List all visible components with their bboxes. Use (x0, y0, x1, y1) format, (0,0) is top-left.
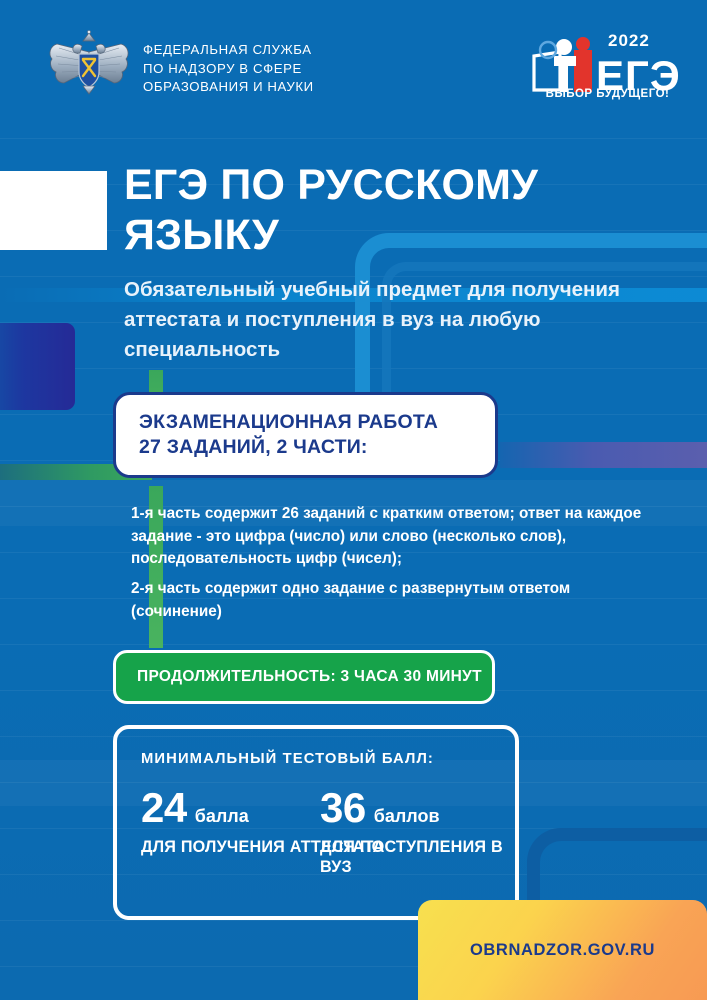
exam-work-line-2: 27 ЗАДАНИЙ, 2 ЧАСТИ: (139, 435, 438, 460)
minimum-score-panel: МИНИМАЛЬНЫЙ ТЕСТОВЫЙ БАЛЛ: 24 балла ДЛЯ … (113, 725, 519, 920)
score-number-row: 36 баллов (320, 787, 515, 829)
footer-website-url[interactable]: OBRNADZOR.GOV.RU (418, 941, 707, 960)
score-number: 36 (320, 787, 366, 829)
page-title: ЕГЭ ПО РУССКОМУ ЯЗЫКУ (124, 160, 624, 260)
org-line-2: ПО НАДЗОРУ В СФЕРЕ (143, 60, 314, 79)
poster: ФЕДЕРАЛЬНАЯ СЛУЖБА ПО НАДЗОРУ В СФЕРЕ ОБ… (0, 0, 707, 1000)
exam-work-card-text: ЭКЗАМЕНАЦИОННАЯ РАБОТА 27 ЗАДАНИЙ, 2 ЧАС… (116, 410, 438, 460)
purple-accent-band (500, 442, 707, 468)
exam-work-card: ЭКЗАМЕНАЦИОННАЯ РАБОТА 27 ЗАДАНИЙ, 2 ЧАС… (113, 392, 498, 478)
duration-text: ПРОДОЛЖИТЕЛЬНОСТЬ: 3 ЧАСА 30 МИНУТ (116, 668, 482, 686)
score-item-university: 36 баллов ДЛЯ ПОСТУПЛЕНИЯ В ВУЗ (320, 787, 515, 877)
org-line-3: ОБРАЗОВАНИЯ И НАУКИ (143, 78, 314, 97)
duration-banner: ПРОДОЛЖИТЕЛЬНОСТЬ: 3 ЧАСА 30 МИНУТ (113, 650, 495, 704)
score-number: 24 (141, 787, 187, 829)
minimum-score-title: МИНИМАЛЬНЫЙ ТЕСТОВЫЙ БАЛЛ: (141, 751, 434, 767)
page-subtitle: Обязательный учебный предмет для получен… (124, 275, 644, 365)
organization-name: ФЕДЕРАЛЬНАЯ СЛУЖБА ПО НАДЗОРУ В СФЕРЕ ОБ… (143, 41, 314, 97)
ege-logo-tagline: ВЫБОР БУДУЩЕГО! (530, 88, 685, 100)
white-accent-rectangle (0, 171, 107, 250)
score-unit: балла (195, 806, 249, 827)
svg-text:2022: 2022 (608, 31, 650, 50)
header: ФЕДЕРАЛЬНАЯ СЛУЖБА ПО НАДЗОРУ В СФЕРЕ ОБ… (0, 0, 707, 122)
part-2-description: 2-я часть содержит одно задание с развер… (131, 578, 643, 623)
score-purpose: ДЛЯ ПОСТУПЛЕНИЯ В ВУЗ (320, 837, 515, 877)
score-unit: баллов (374, 806, 440, 827)
footer-banner: OBRNADZOR.GOV.RU (418, 900, 707, 1000)
part-1-description: 1-я часть содержит 26 заданий с кратким … (131, 503, 643, 571)
double-headed-eagle-emblem-icon (47, 30, 131, 96)
exam-work-line-1: ЭКЗАМЕНАЦИОННАЯ РАБОТА (139, 410, 438, 435)
org-line-1: ФЕДЕРАЛЬНАЯ СЛУЖБА (143, 41, 314, 60)
purple-accent-block (0, 323, 75, 410)
